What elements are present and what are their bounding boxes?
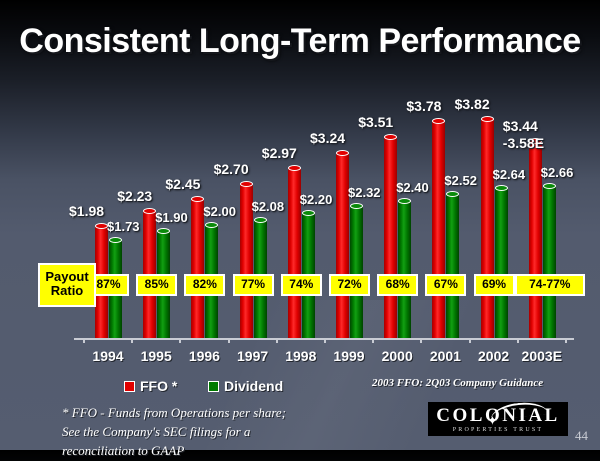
payout-ratio-value: 77% [233,274,274,296]
value-label-dividend: $1.73 [107,219,140,234]
footnote: * FFO - Funds from Operations per share;… [62,404,362,461]
footnote-line-2: See the Company's SEC filings for a [62,423,362,442]
legend-item-dividend: Dividend [208,378,283,394]
axis-tick [517,338,519,343]
value-label-ffo: $3.24 [310,130,345,146]
value-label-dividend: $2.40 [396,180,429,195]
footnote-line-1: * FFO - Funds from Operations per share; [62,404,362,423]
logo-star-icon: ✦ [487,414,498,427]
payout-ratio-value: 82% [184,274,225,296]
value-label-ffo: $2.70 [214,161,249,177]
payout-ratio-value: 67% [425,274,466,296]
payout-ratio-value: 74-77% [515,274,585,296]
payout-ratio-value: 74% [281,274,322,296]
value-label-dividend: $2.08 [252,199,285,214]
axis-tick [83,338,85,343]
payout-ratio-value: 85% [136,274,177,296]
value-label-ffo: $3.44 [503,118,538,134]
axis-tick [324,338,326,343]
axis-tick [420,338,422,343]
legend-swatch-ffo-icon [124,381,135,392]
bar-ffo [384,134,397,338]
legend-label-dividend: Dividend [224,378,283,394]
value-label-ffo: $1.98 [69,203,104,219]
bar-dividend [446,191,459,338]
value-label-ffo: $2.97 [262,145,297,161]
bar-ffo [432,118,445,338]
value-label-dividend: $2.32 [348,185,381,200]
payout-ratio-value: 69% [474,274,515,296]
bar-dividend [350,203,363,338]
payout-ratio-header: Payout Ratio [38,263,96,307]
value-label-dividend: $2.00 [203,204,236,219]
footnote-line-3: reconciliation to GAAP [62,442,362,461]
axis-tick [179,338,181,343]
value-label-dividend: $2.52 [444,173,477,188]
value-label-dividend: $2.64 [493,167,526,182]
bar-ffo [288,165,301,338]
legend-item-ffo: FFO * [124,378,177,394]
axis-tick [565,338,567,343]
value-label-ffo: $2.23 [117,188,152,204]
guidance-note: 2003 FFO: 2Q03 Company Guidance [372,377,543,389]
bar-dividend [543,183,556,338]
value-label-ffo: $3.78 [406,98,441,114]
company-logo: ✦ COLONIAL PROPERTIES TRUST [428,402,568,436]
value-label-ffo: $2.45 [165,176,200,192]
value-label-ffo: $3.82 [455,96,490,112]
axis-tick [372,338,374,343]
axis-tick [131,338,133,343]
axis-tick [228,338,230,343]
payout-ratio-value: 68% [377,274,418,296]
value-label-ffo: $3.51 [358,114,393,130]
value-label-dividend: $1.90 [155,210,188,225]
value-label-dividend: $2.20 [300,192,333,207]
value-label-dividend: $2.66 [541,165,574,180]
axis-tick [276,338,278,343]
bar-ffo [481,116,494,338]
legend-label-ffo: FFO * [140,378,177,394]
axis-label-year: 2003E [512,348,572,364]
legend-swatch-dividend-icon [208,381,219,392]
value-label-ffo-range: -3.58E [503,135,544,151]
bar-dividend [495,185,508,338]
bar-ffo [336,150,349,338]
payout-ratio-value: 72% [329,274,370,296]
bar-dividend [398,198,411,338]
axis-tick [469,338,471,343]
page-number: 44 [575,428,588,444]
bar-ffo [143,208,156,338]
